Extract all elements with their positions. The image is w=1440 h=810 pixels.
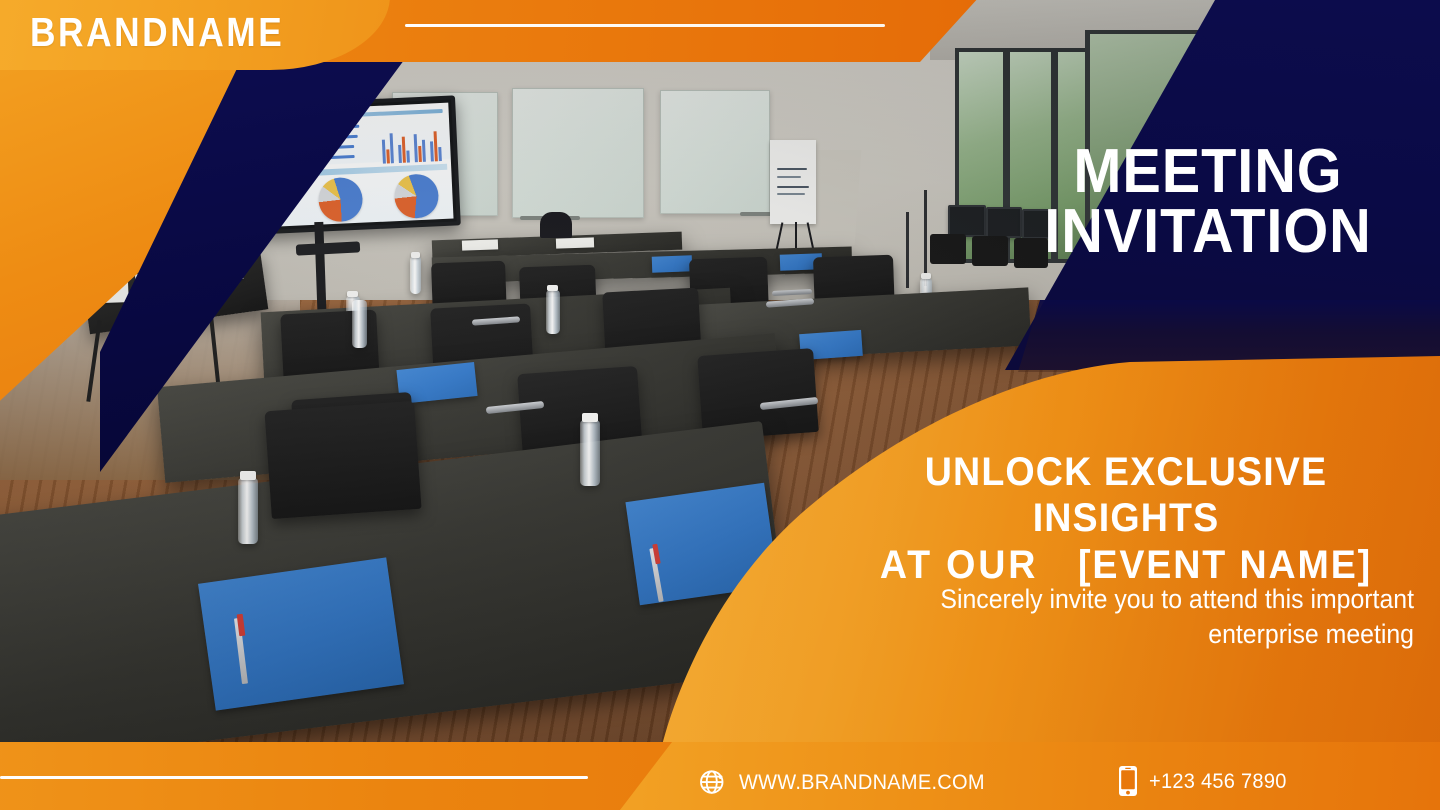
flipchart-line	[777, 193, 805, 195]
contact-phone[interactable]: +123 456 7890	[1118, 765, 1297, 797]
title-line-1: MEETING	[1073, 137, 1342, 206]
flipchart-line	[777, 168, 807, 170]
contact-website[interactable]: WWW.BRANDNAME.COM	[698, 767, 1003, 797]
water-bottle	[410, 256, 421, 294]
monitor	[948, 205, 986, 237]
bottle-cap	[347, 291, 358, 297]
chair	[972, 236, 1008, 266]
footer-accent-line	[0, 776, 588, 779]
headline: UNLOCK EXCLUSIVE INSIGHTS AT OUR [EVENT …	[853, 449, 1398, 588]
title-line-2: INVITATION	[1013, 202, 1404, 262]
cable	[924, 190, 927, 286]
whiteboard	[512, 88, 644, 218]
chart-pie	[393, 173, 439, 219]
meeting-invitation-poster: BRANDNAME MEETING INVITATION UNLOCK EXCL…	[0, 0, 1440, 810]
cable	[906, 212, 909, 288]
globe-icon	[698, 767, 728, 797]
subtext-line-2: enterprise meeting	[844, 617, 1414, 652]
flipchart-line	[777, 176, 801, 178]
chair	[540, 212, 572, 238]
chair	[930, 234, 966, 264]
water-bottle	[238, 478, 258, 544]
subtext-line-1: Sincerely invite you to attend this impo…	[940, 584, 1414, 614]
smartphone-icon	[1118, 765, 1138, 797]
top-accent-line	[405, 24, 885, 27]
whiteboard	[660, 90, 770, 214]
water-bottle	[352, 300, 367, 348]
bottle-cap	[921, 273, 931, 279]
blue-folder	[652, 255, 693, 272]
event-name-placeholder: [EVENT NAME]	[1078, 543, 1372, 587]
phone-label: +123 456 7890	[1149, 769, 1287, 794]
bottle-cap	[547, 285, 558, 291]
page-title: MEETING INVITATION	[1013, 142, 1404, 261]
name-card	[556, 237, 594, 248]
headline-prefix: AT OUR	[880, 543, 1038, 587]
invitation-subtext: Sincerely invite you to attend this impo…	[844, 582, 1414, 652]
chair	[264, 401, 421, 519]
brand-name: BRANDNAME	[30, 12, 284, 53]
water-bottle	[580, 420, 600, 486]
bottle-cap	[582, 413, 598, 422]
headline-line-1: UNLOCK EXCLUSIVE INSIGHTS	[925, 450, 1327, 540]
chart-pie	[318, 177, 364, 223]
blue-folder	[198, 557, 404, 710]
flipchart-paper	[770, 140, 816, 224]
name-card	[462, 239, 498, 250]
website-label: WWW.BRANDNAME.COM	[739, 770, 985, 795]
easel-pad	[809, 150, 862, 245]
chart-minibar-group	[379, 121, 447, 164]
water-bottle	[546, 290, 560, 334]
bottle-cap	[240, 471, 256, 480]
flipchart-line	[777, 186, 809, 188]
bottle-cap	[411, 252, 420, 258]
